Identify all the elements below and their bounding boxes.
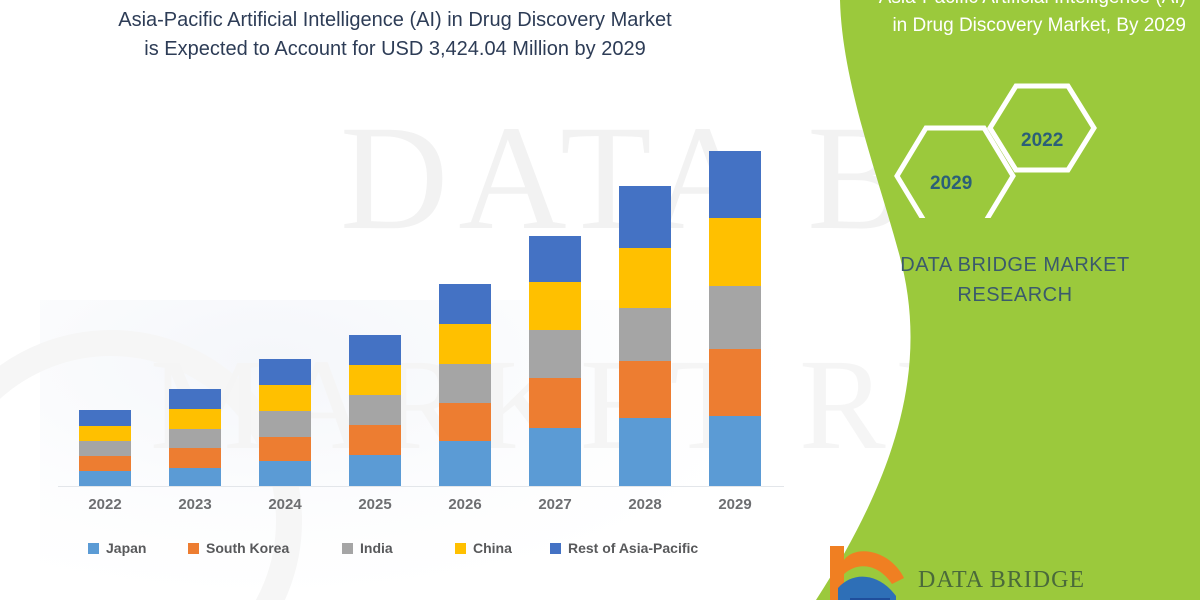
bar-segment <box>619 248 671 308</box>
bar-segment <box>169 448 221 468</box>
footer-logo: DATA BRIDGE <box>820 540 1085 600</box>
bar-column-2027[interactable] <box>529 236 581 486</box>
legend-item-china[interactable]: China <box>455 540 512 556</box>
bar-segment <box>169 409 221 429</box>
chart-title-line-1: Asia-Pacific Artificial Intelligence (AI… <box>0 6 790 35</box>
bar-segment <box>529 330 581 378</box>
panel-title: Asia-Pacific Artificial Intelligence (AI… <box>856 0 1186 40</box>
legend-item-japan[interactable]: Japan <box>88 540 146 556</box>
brand-name-line-2: RESEARCH <box>850 280 1180 310</box>
bar-segment <box>79 456 131 471</box>
bar-segment <box>619 361 671 418</box>
legend-label: Rest of Asia-Pacific <box>568 540 698 556</box>
x-axis-tick-2025: 2025 <box>349 496 401 513</box>
brand-name: DATA BRIDGE MARKET RESEARCH <box>850 250 1180 310</box>
x-axis-line <box>58 486 784 487</box>
bar-segment <box>259 437 311 461</box>
chart-panel: Asia-Pacific Artificial Intelligence (AI… <box>0 0 860 600</box>
x-axis-tick-2024: 2024 <box>259 496 311 513</box>
bar-segment <box>439 284 491 324</box>
brand-panel: Asia-Pacific Artificial Intelligence (AI… <box>780 0 1200 600</box>
bar-segment <box>709 286 761 349</box>
bar-segment <box>439 324 491 364</box>
plot-area <box>60 120 780 486</box>
bar-segment <box>619 308 671 361</box>
legend-item-south-korea[interactable]: South Korea <box>188 540 289 556</box>
legend-label: India <box>360 540 393 556</box>
bar-column-2025[interactable] <box>349 335 401 486</box>
bar-segment <box>79 426 131 441</box>
panel-title-line-1: Asia-Pacific Artificial Intelligence (AI… <box>856 0 1186 12</box>
hexagon-group: 2022 2029 <box>890 78 1120 218</box>
bar-segment <box>259 359 311 385</box>
chart-title-line-2: is Expected to Account for USD 3,424.04 … <box>0 35 790 64</box>
bar-segment <box>259 385 311 411</box>
legend-item-rest-of-asia-pacific[interactable]: Rest of Asia-Pacific <box>550 540 698 556</box>
bar-column-2022[interactable] <box>79 410 131 486</box>
bar-segment <box>349 335 401 365</box>
bar-segment <box>349 395 401 425</box>
bar-segment <box>709 151 761 218</box>
bar-segment <box>439 441 491 486</box>
bar-segment <box>259 461 311 486</box>
bar-segment <box>79 441 131 456</box>
bar-segment <box>349 425 401 455</box>
legend-label: China <box>473 540 512 556</box>
x-axis-tick-2028: 2028 <box>619 496 671 513</box>
hexagon-2029-label: 2029 <box>930 173 972 195</box>
bar-segment <box>529 282 581 330</box>
legend-swatch-icon <box>88 543 99 554</box>
x-axis-tick-2026: 2026 <box>439 496 491 513</box>
x-axis-tick-2022: 2022 <box>79 496 131 513</box>
brand-name-line-1: DATA BRIDGE MARKET <box>850 250 1180 280</box>
x-axis-tick-2027: 2027 <box>529 496 581 513</box>
bar-segment <box>529 236 581 282</box>
bar-segment <box>709 416 761 486</box>
bar-segment <box>169 429 221 448</box>
bar-column-2024[interactable] <box>259 359 311 486</box>
legend-swatch-icon <box>188 543 199 554</box>
bar-segment <box>259 411 311 437</box>
bar-segment <box>709 349 761 416</box>
bar-segment <box>79 410 131 426</box>
brand-panel-content: Asia-Pacific Artificial Intelligence (AI… <box>780 0 1200 600</box>
bar-segment <box>709 218 761 286</box>
bar-column-2028[interactable] <box>619 186 671 486</box>
bar-segment <box>439 364 491 403</box>
legend-swatch-icon <box>550 543 561 554</box>
x-axis-tick-2023: 2023 <box>169 496 221 513</box>
legend-swatch-icon <box>342 543 353 554</box>
legend-label: South Korea <box>206 540 289 556</box>
bar-column-2026[interactable] <box>439 284 491 486</box>
bar-segment <box>169 389 221 409</box>
legend-label: Japan <box>106 540 146 556</box>
chart-title: Asia-Pacific Artificial Intelligence (AI… <box>0 6 790 64</box>
bar-segment <box>349 365 401 395</box>
hexagon-2022-label: 2022 <box>1021 130 1063 152</box>
x-axis-labels: 20222023202420252026202720282029 <box>60 496 780 522</box>
panel-title-line-2: in Drug Discovery Market, By 2029 <box>856 12 1186 40</box>
legend-swatch-icon <box>455 543 466 554</box>
bar-segment <box>349 455 401 486</box>
data-bridge-logo-icon <box>820 540 906 600</box>
bar-segment <box>439 403 491 441</box>
bar-segment <box>529 428 581 486</box>
bar-segment <box>169 468 221 486</box>
legend-item-india[interactable]: India <box>342 540 393 556</box>
bar-segment <box>619 418 671 486</box>
footer-logo-text: DATA BRIDGE <box>918 567 1085 600</box>
bar-segment <box>529 378 581 428</box>
bar-segment <box>619 186 671 248</box>
bar-column-2029[interactable] <box>709 151 761 486</box>
bar-segment <box>79 471 131 486</box>
x-axis-tick-2029: 2029 <box>709 496 761 513</box>
hexagon-outlines-icon <box>890 78 1120 218</box>
bar-column-2023[interactable] <box>169 389 221 486</box>
hexagon-2022-icon <box>990 86 1094 170</box>
chart-legend: JapanSouth KoreaIndiaChinaRest of Asia-P… <box>60 540 780 564</box>
